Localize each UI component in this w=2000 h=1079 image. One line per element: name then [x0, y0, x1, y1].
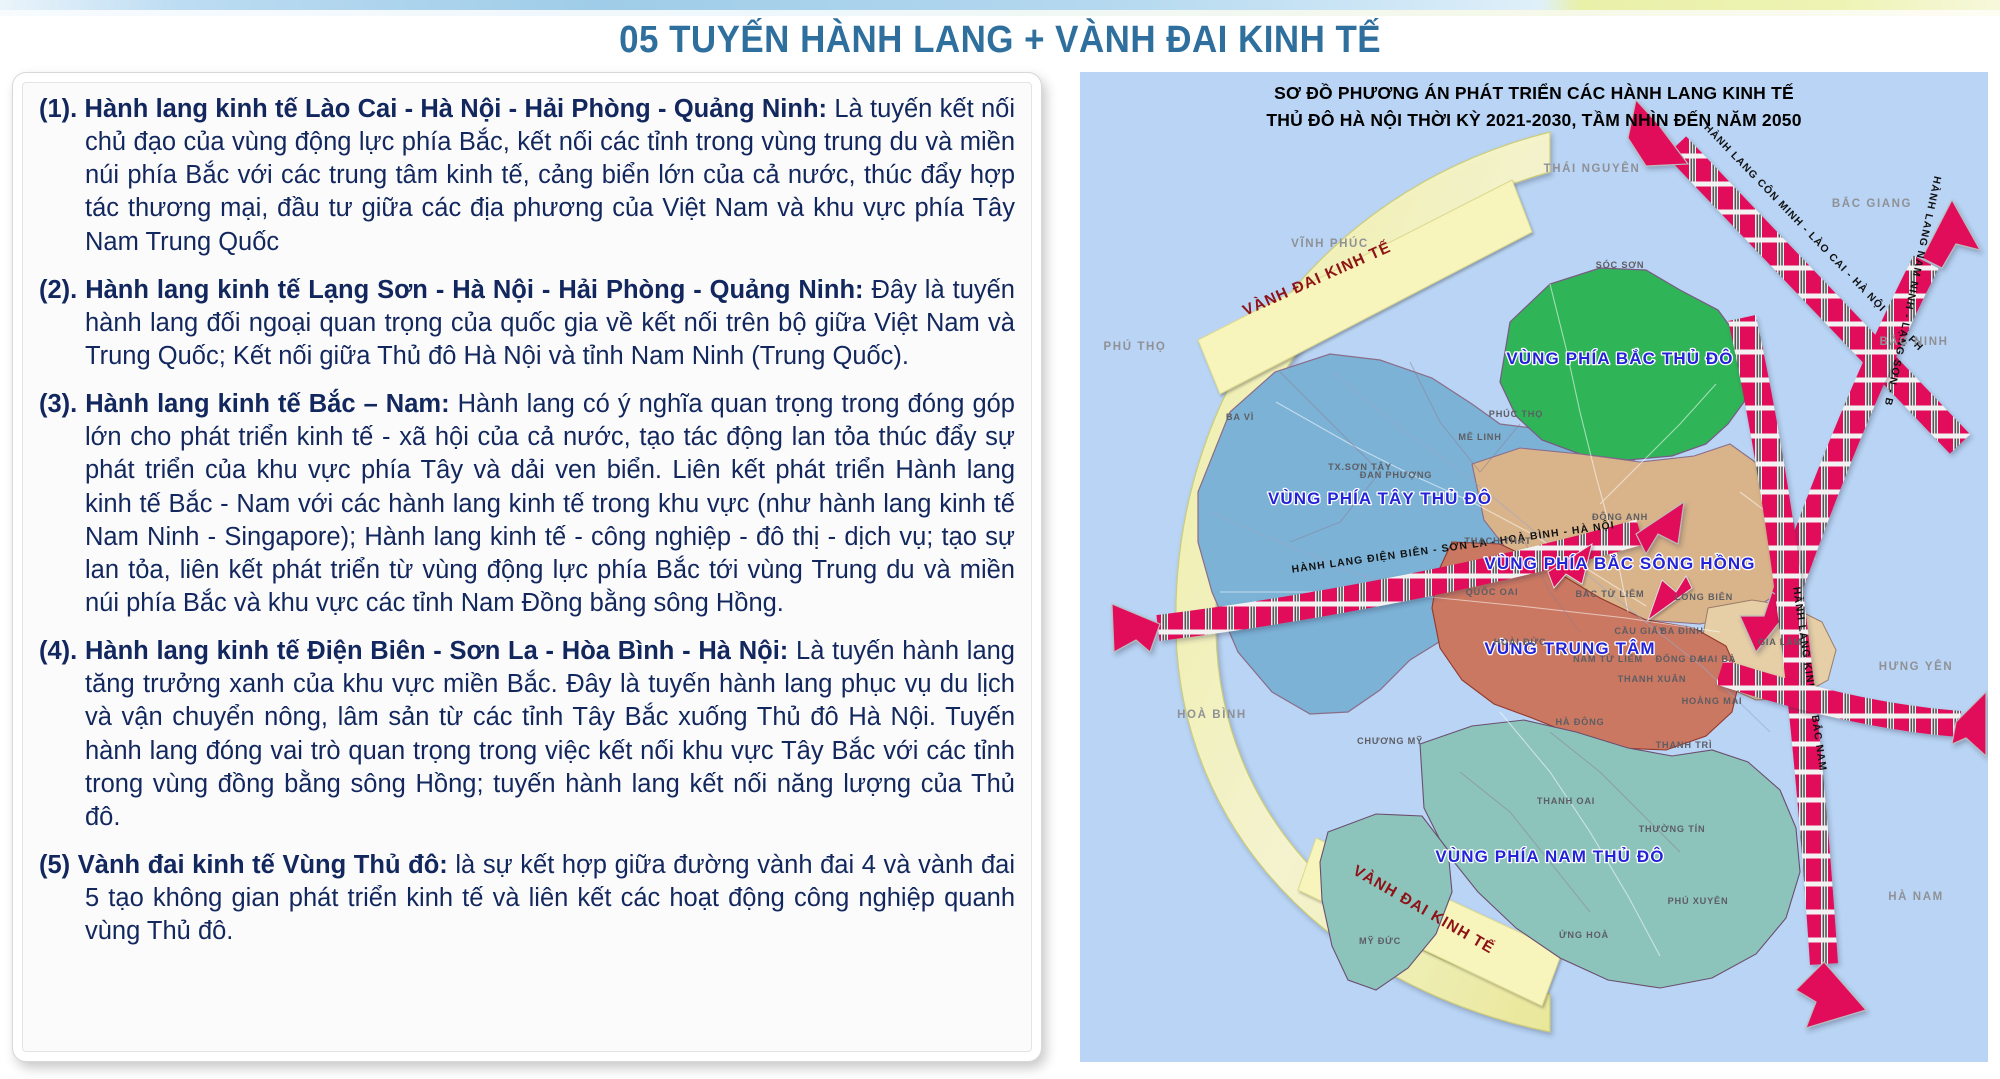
- district-label-dong-da: ĐỐNG ĐA: [1656, 653, 1705, 664]
- district-label-hai-ba: HAI BÀ: [1700, 653, 1736, 664]
- district-label-phu-xuyen: PHÚ XUYÊN: [1668, 895, 1729, 906]
- province-label-thai-nguyen: THÁI NGUYÊN: [1544, 162, 1641, 175]
- corridor-item-1: (1). Hành lang kinh tế Lào Cai - Hà Nội …: [39, 93, 1015, 259]
- district-label-ba-dinh: BA ĐÌNH: [1660, 625, 1704, 636]
- district-label-my-duc: MỸ ĐỨC: [1359, 935, 1401, 946]
- district-label-hoang-mai: HOÀNG MAI: [1682, 695, 1743, 706]
- corridor-item-3-body: Hành lang có ý nghĩa quan trọng trong đó…: [85, 390, 1015, 617]
- ring-item-5-label: (5) Vành đai kinh tế Vùng Thủ đô:: [39, 851, 448, 879]
- district-label-dong-anh: ĐÔNG ANH: [1592, 511, 1648, 522]
- district-label-me-linh: MÊ LINH: [1458, 431, 1501, 442]
- zone-label-north: VÙNG PHÍA BẮC THỦ ĐÔ: [1506, 349, 1733, 368]
- ring-item-5: (5) Vành đai kinh tế Vùng Thủ đô: là sự …: [39, 849, 1015, 948]
- page-title: 05 TUYẾN HÀNH LANG + VÀNH ĐAI KINH TẾ: [619, 19, 1381, 62]
- district-label-ung-hoa: ỨNG HOÀ: [1559, 929, 1609, 940]
- corridor-item-4-sep: [788, 637, 796, 665]
- map-title: SƠ ĐỒ PHƯƠNG ÁN PHÁT TRIỂN CÁC HÀNH LANG…: [1080, 80, 1988, 134]
- corridor-item-3: (3). Hành lang kinh tế Bắc – Nam: Hành l…: [39, 388, 1015, 620]
- district-label-nam-tu-liem: NAM TỪ LIÊM: [1573, 653, 1643, 664]
- province-label-ha-nam: HÀ NAM: [1888, 890, 1944, 903]
- district-label-ba-vi: BA VÌ: [1226, 411, 1254, 422]
- corridor-description-panel: (1). Hành lang kinh tế Lào Cai - Hà Nội …: [12, 72, 1042, 1062]
- corridor-item-4: (4). Hành lang kinh tế Điện Biên - Sơn L…: [39, 635, 1015, 834]
- district-label-cau-giay: CẦU GIẤY: [1614, 626, 1665, 636]
- corridor-item-3-sep: [450, 390, 458, 418]
- corridor-item-4-label: (4). Hành lang kinh tế Điện Biên - Sơn L…: [39, 637, 788, 665]
- province-label-hung-yen: HƯNG YÊN: [1879, 660, 1954, 673]
- district-label-ha-dong: HÀ ĐÔNG: [1556, 716, 1605, 727]
- map-title-line-1: SƠ ĐỒ PHƯƠNG ÁN PHÁT TRIỂN CÁC HÀNH LANG…: [1080, 80, 1988, 107]
- district-label-hoai-duc: HOÀI ĐỨC: [1494, 636, 1547, 647]
- district-label-thanh-xuan: THANH XUÂN: [1618, 673, 1687, 684]
- hanoi-economic-corridor-map: HÀNH LANG CÔN MINH - LÀO CAI - HÀ NỘI - …: [1080, 72, 1988, 1062]
- province-label-vinh-phuc: VĨNH PHÚC: [1291, 237, 1369, 250]
- district-label-gia-lam: GIA LÂM: [1758, 636, 1802, 647]
- decorative-top-strip: [0, 0, 2000, 10]
- district-label-quoc-oai: QUỐC OAI: [1466, 586, 1519, 597]
- corridor-item-4-body: Là tuyến hành lang tăng trưởng xanh của …: [85, 637, 1015, 831]
- district-label-tx-son-tay: TX.SƠN TÂY: [1328, 461, 1392, 472]
- zone-label-south: VÙNG PHÍA NAM THỦ ĐÔ: [1435, 847, 1664, 866]
- province-label-hoa-binh: HOÀ BÌNH: [1177, 708, 1247, 721]
- district-label-long-bien: LONG BIÊN: [1675, 591, 1733, 602]
- corridor-item-2-label: (2). Hành lang kinh tế Lạng Sơn - Hà Nội…: [39, 276, 864, 304]
- district-label-bac-tu-liem: BẮC TỪ LIÊM: [1576, 588, 1645, 599]
- district-label-thanh-oai: THANH OAI: [1537, 796, 1595, 806]
- district-label-thuong-tin: THƯỜNG TÍN: [1639, 823, 1706, 834]
- province-label-bac-giang: BẮC GIANG: [1832, 197, 1912, 210]
- province-label-bac-ninh: BẮC NINH: [1879, 335, 1948, 348]
- district-label-soc-son: SÓC SƠN: [1596, 259, 1645, 270]
- district-label-thach-that: THẠCH THẤT: [1464, 536, 1531, 546]
- slide-header: 05 TUYẾN HÀNH LANG + VÀNH ĐAI KINH TẾ: [0, 14, 2000, 66]
- district-label-phuc-tho: PHÚC THỌ: [1489, 408, 1543, 419]
- corridor-item-2-sep: [864, 276, 872, 304]
- slide-root: 05 TUYẾN HÀNH LANG + VÀNH ĐAI KINH TẾ (1…: [0, 0, 2000, 1079]
- corridor-item-1-sep: :: [819, 95, 835, 123]
- zone-label-north-red-river: VÙNG PHÍA BẮC SÔNG HỒNG: [1484, 554, 1755, 573]
- corridor-item-1-label: (1). Hành lang kinh tế Lào Cai - Hà Nội …: [39, 95, 819, 123]
- map-panel: SƠ ĐỒ PHƯƠNG ÁN PHÁT TRIỂN CÁC HÀNH LANG…: [1080, 72, 1988, 1062]
- corridor-item-2: (2). Hành lang kinh tế Lạng Sơn - Hà Nội…: [39, 274, 1015, 373]
- zone-label-west: VÙNG PHÍA TÂY THỦ ĐÔ: [1268, 489, 1492, 508]
- map-title-line-2: THỦ ĐÔ HÀ NỘI THỜI KỲ 2021-2030, TẦM NHÌ…: [1080, 107, 1988, 134]
- corridor-item-3-label: (3). Hành lang kinh tế Bắc – Nam:: [39, 390, 450, 418]
- district-label-chuong-my: CHƯƠNG MỸ: [1357, 736, 1423, 746]
- province-label-phu-tho: PHÚ THỌ: [1104, 340, 1167, 353]
- district-label-thanh-tri: THANH TRÌ: [1656, 739, 1713, 750]
